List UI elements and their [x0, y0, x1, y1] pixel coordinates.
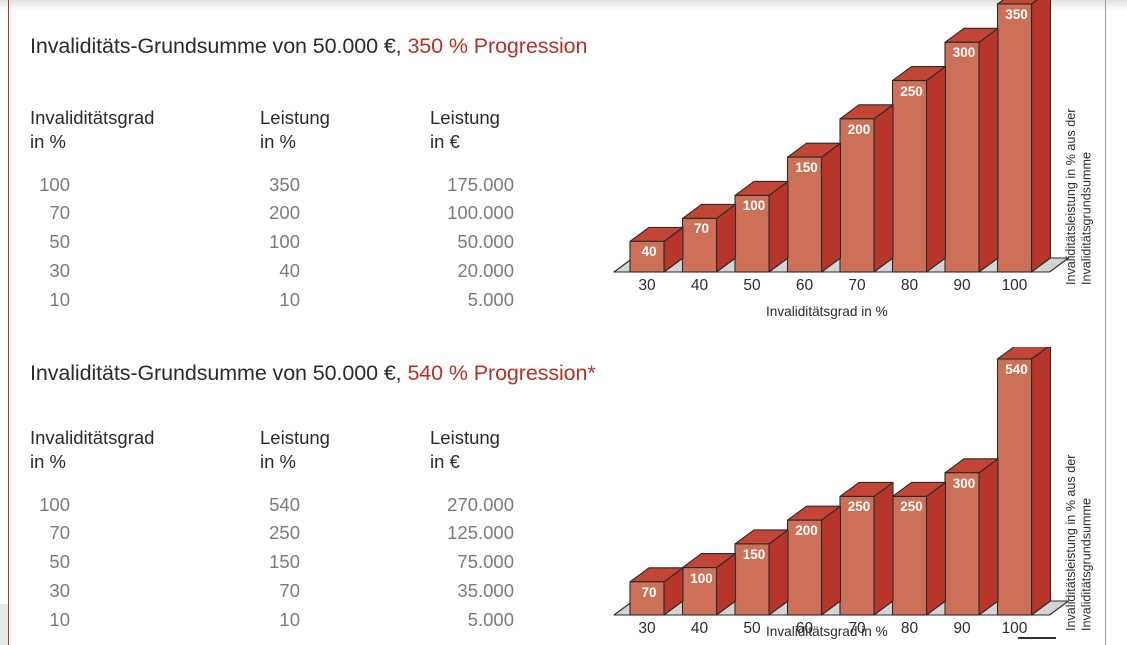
chart-y-axis-label-540: Invaliditätsleistung in % aus derInvalid…	[1064, 431, 1095, 631]
header-line1: Leistung	[430, 427, 500, 448]
header-line1: Leistung	[430, 107, 500, 128]
header-line1: Leistung	[260, 107, 330, 128]
y-label-line2: Invaliditätsgrundsumme	[1080, 498, 1094, 631]
chart-bar	[840, 482, 893, 615]
cell-leistung-eur: 35.000	[430, 577, 550, 606]
cell-value: 540	[260, 491, 300, 520]
cell-value: 40	[260, 257, 300, 286]
x-axis-tick-label: 100	[991, 277, 1039, 295]
chart-y-axis-label-350: Invaliditätsleistung in % aus derInvalid…	[1064, 45, 1095, 285]
col-header-leistung-prozent: Leistung in %	[260, 106, 430, 155]
col-header-invaliditaetsgrad: Invaliditätsgrad in %	[30, 106, 260, 155]
right-margin-rule	[1105, 0, 1106, 645]
table-header-row: Invaliditätsgrad in % Leistung in % Leis…	[30, 426, 550, 475]
x-axis-tick-label: 50	[728, 277, 776, 295]
cell-grad: 10	[30, 286, 260, 315]
cell-grad: 50	[30, 548, 260, 577]
section-title-540: Invaliditäts-Grundsumme von 50.000 €, 54…	[30, 361, 596, 386]
header-line2: in €	[430, 450, 550, 474]
cell-value: 100	[30, 171, 70, 200]
cell-leistung-eur: 20.000	[430, 257, 550, 286]
cell-leistung-pct: 40	[260, 257, 430, 286]
cell-leistung-pct: 10	[260, 606, 430, 635]
chart-bar	[998, 347, 1051, 615]
cell-value: 10	[260, 286, 300, 315]
chart-bar	[735, 181, 788, 272]
x-axis-tick-label: 30	[623, 620, 671, 638]
table-row: 30 40 20.000	[30, 257, 550, 286]
header-line1: Invaliditätsgrad	[30, 107, 154, 128]
chart-bar	[683, 204, 736, 272]
cell-value: 5.000	[430, 286, 514, 315]
cell-leistung-pct: 250	[260, 519, 430, 548]
table-350: Invaliditätsgrad in % Leistung in % Leis…	[30, 106, 550, 314]
header-line1: Invaliditätsgrad	[30, 427, 154, 448]
chart-bar	[998, 0, 1051, 272]
cell-leistung-pct: 350	[260, 171, 430, 200]
table-540: Invaliditätsgrad in % Leistung in % Leis…	[30, 426, 550, 634]
cell-value: 10	[30, 606, 70, 635]
cell-leistung-pct: 100	[260, 228, 430, 257]
cell-leistung-eur: 100.000	[430, 199, 550, 228]
cell-leistung-eur: 175.000	[430, 171, 550, 200]
y-label-line2: Invaliditätsgrundsumme	[1080, 152, 1094, 285]
cell-grad: 100	[30, 491, 260, 520]
table-row: 70 200 100.000	[30, 199, 550, 228]
cell-value: 10	[30, 286, 70, 315]
table-row: 10 10 5.000	[30, 286, 550, 315]
cell-value: 100	[260, 228, 300, 257]
x-axis-tick-label: 80	[886, 277, 934, 295]
left-bottom-notch	[0, 604, 8, 645]
chart-x-axis-label-350: Invaliditätsgrad in %	[766, 304, 888, 319]
col-header-leistung-euro: Leistung in €	[430, 106, 550, 155]
cell-grad: 30	[30, 577, 260, 606]
x-axis-tick-label: 80	[886, 620, 934, 638]
cell-grad: 70	[30, 519, 260, 548]
cell-value: 50	[30, 228, 70, 257]
chart-svg	[600, 347, 1070, 633]
header-line2: in %	[260, 130, 430, 154]
cell-value: 75.000	[430, 548, 514, 577]
x-axis-tick-label: 90	[938, 620, 986, 638]
cell-value: 5.000	[430, 606, 514, 635]
cell-value: 250	[260, 519, 300, 548]
cell-leistung-pct: 70	[260, 577, 430, 606]
col-header-leistung-euro: Leistung in €	[430, 426, 550, 475]
cell-leistung-pct: 150	[260, 548, 430, 577]
header-line2: in %	[30, 130, 260, 154]
cell-value: 50.000	[430, 228, 514, 257]
cell-value: 35.000	[430, 577, 514, 606]
col-header-invaliditaetsgrad: Invaliditätsgrad in %	[30, 426, 260, 475]
cell-value: 30	[30, 577, 70, 606]
cell-value: 30	[30, 257, 70, 286]
table-row: 50 100 50.000	[30, 228, 550, 257]
table-row: 70 250 125.000	[30, 519, 550, 548]
cell-leistung-eur: 50.000	[430, 228, 550, 257]
cell-grad: 100	[30, 171, 260, 200]
x-axis-tick-label: 70	[833, 277, 881, 295]
cell-value: 20.000	[430, 257, 514, 286]
chart-bar	[945, 459, 998, 615]
table-row: 30 70 35.000	[30, 577, 550, 606]
x-axis-tick-label: 60	[781, 277, 829, 295]
chart-x-axis-label-540: Invaliditätsgrad in %	[766, 624, 888, 639]
cell-value: 10	[260, 606, 300, 635]
section-title-main: Invaliditäts-Grundsumme von 50.000 €,	[30, 361, 407, 385]
document-page: Invaliditäts-Grundsumme von 50.000 €, 35…	[0, 0, 1127, 645]
cell-leistung-pct: 540	[260, 491, 430, 520]
cell-value: 50	[30, 548, 70, 577]
bar-chart-540: 7030100401505020060250702508030090540100	[600, 347, 1070, 633]
section-title-main: Invaliditäts-Grundsumme von 50.000 €,	[30, 34, 407, 58]
table-row: 100 350 175.000	[30, 171, 550, 200]
cell-leistung-eur: 75.000	[430, 548, 550, 577]
x-axis-tick-label: 100	[991, 620, 1039, 638]
chart-bar	[893, 67, 946, 272]
cell-value: 100	[30, 491, 70, 520]
cell-grad: 70	[30, 199, 260, 228]
chart-bar	[683, 554, 736, 615]
cell-value: 70	[260, 577, 300, 606]
cell-value: 150	[260, 548, 300, 577]
x-axis-tick-label: 90	[938, 277, 986, 295]
header-line2: in %	[30, 450, 260, 474]
chart-bar	[735, 530, 788, 615]
cell-leistung-eur: 5.000	[430, 606, 550, 635]
y-label-line1: Invaliditätsleistung in % aus der	[1064, 455, 1078, 631]
cell-grad: 30	[30, 257, 260, 286]
table-row: 10 10 5.000	[30, 606, 550, 635]
cell-value: 70	[30, 519, 70, 548]
cell-value: 70	[30, 199, 70, 228]
x-axis-tick-label: 30	[623, 277, 671, 295]
x-axis-tick-label: 40	[676, 277, 724, 295]
x-axis-tick-label: 40	[676, 620, 724, 638]
cell-value: 200	[260, 199, 300, 228]
bar-chart-350: 403070401005015060200702508030090350100	[600, 0, 1070, 310]
cell-leistung-eur: 125.000	[430, 519, 550, 548]
table-row: 100 540 270.000	[30, 491, 550, 520]
chart-svg	[600, 0, 1070, 310]
section-title-accent: 540 % Progression*	[407, 361, 595, 385]
cell-grad: 10	[30, 606, 260, 635]
chart-bar	[893, 482, 946, 615]
left-margin-rule	[8, 0, 9, 645]
cell-value: 270.000	[430, 491, 514, 520]
section-title-accent: 350 % Progression	[407, 34, 587, 58]
header-line2: in €	[430, 130, 550, 154]
chart-bar	[945, 28, 998, 272]
chart-bar	[788, 143, 841, 272]
chart-bar	[788, 506, 841, 615]
cell-leistung-eur: 270.000	[430, 491, 550, 520]
table-header-row: Invaliditätsgrad in % Leistung in % Leis…	[30, 106, 550, 155]
cell-leistung-pct: 200	[260, 199, 430, 228]
cell-value: 100.000	[430, 199, 514, 228]
cell-leistung-pct: 10	[260, 286, 430, 315]
cell-value: 175.000	[430, 171, 514, 200]
cell-grad: 50	[30, 228, 260, 257]
cell-value: 125.000	[430, 519, 514, 548]
header-line2: in %	[260, 450, 430, 474]
col-header-leistung-prozent: Leistung in %	[260, 426, 430, 475]
header-line1: Leistung	[260, 427, 330, 448]
cell-leistung-eur: 5.000	[430, 286, 550, 315]
y-label-line1: Invaliditätsleistung in % aus der	[1064, 109, 1078, 285]
cell-value: 350	[260, 171, 300, 200]
chart-bar	[840, 105, 893, 272]
section-title-350: Invaliditäts-Grundsumme von 50.000 €, 35…	[30, 34, 587, 59]
table-row: 50 150 75.000	[30, 548, 550, 577]
